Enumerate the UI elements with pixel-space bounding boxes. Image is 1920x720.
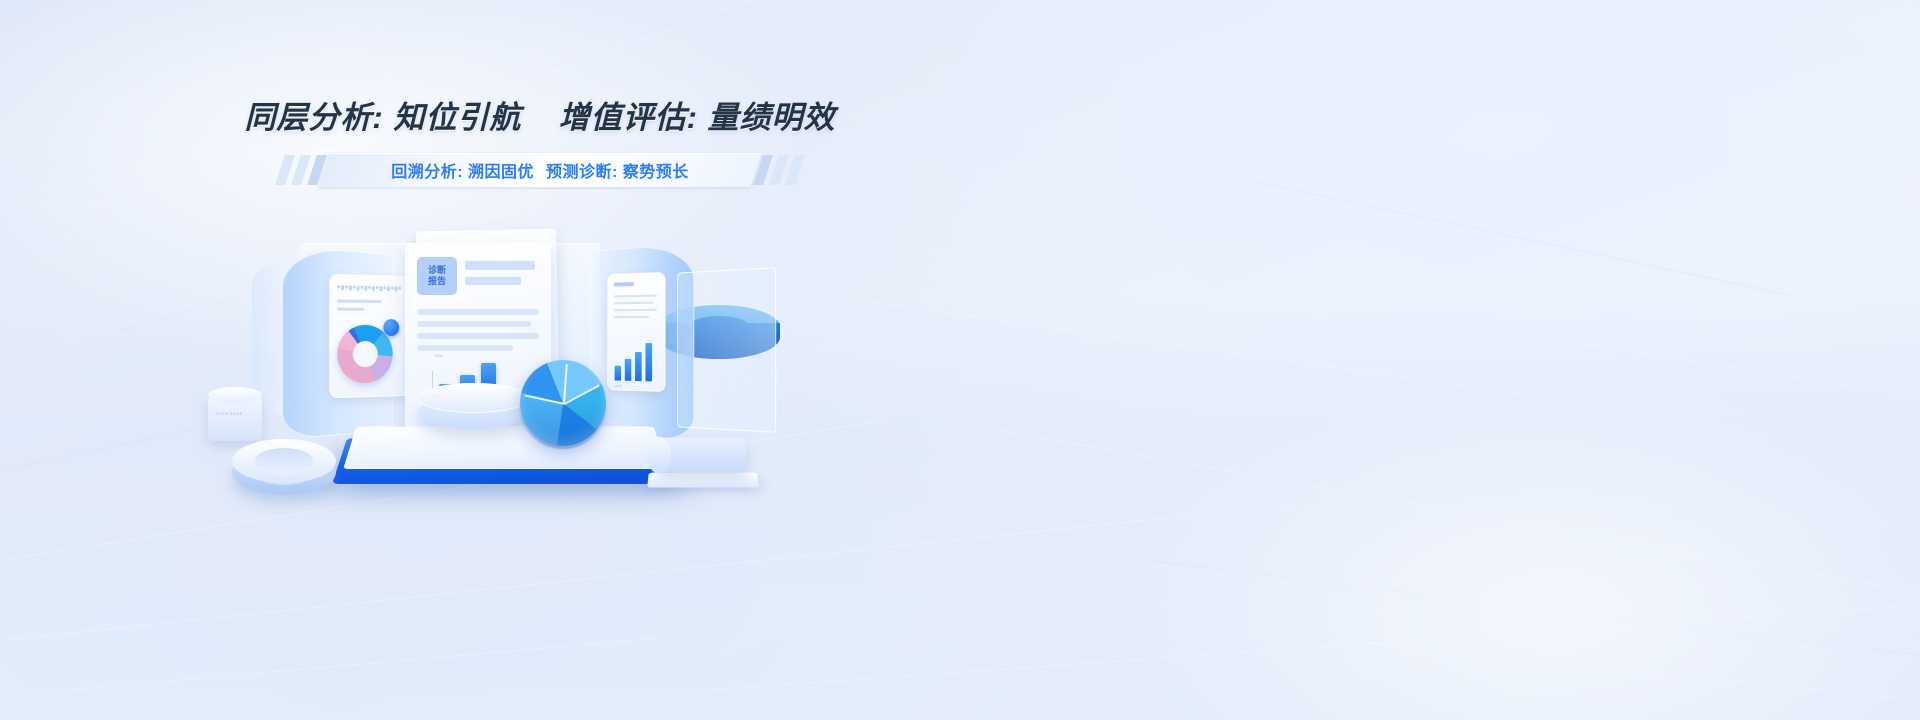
tube-prop [658, 438, 747, 473]
subtitle-part2: 预测诊断: 察势预长 [546, 158, 689, 182]
pie-chart-icon [520, 360, 606, 446]
card-line [614, 309, 657, 311]
mini-chart-axis-label: 20% [614, 383, 623, 388]
header-block: 同层分析: 知位引航 增值评估: 量绩明效 回溯分析: 溯因固优 预测诊断: 察… [0, 0, 1080, 187]
card-line [337, 299, 381, 303]
bar [625, 359, 632, 381]
blue-dot-icon [383, 319, 399, 336]
database-canister: DATA BASE [208, 395, 262, 441]
document-text-row [417, 309, 539, 315]
mini-bar-chart-card: 20% [607, 272, 665, 392]
pie-seam [563, 364, 567, 404]
donut-chart-card [329, 274, 413, 398]
donut-chart-icon [337, 325, 393, 384]
canister-label: DATA BASE [216, 411, 243, 416]
card-line [337, 308, 364, 311]
document-subtitle-bar [465, 277, 521, 285]
hero-banner: 同层分析: 知位引航 增值评估: 量绩明效 回溯分析: 溯因固优 预测诊断: 察… [0, 0, 1920, 720]
ring-prop-top [232, 439, 336, 483]
card-line [614, 316, 650, 318]
glass-wall-outer-right [677, 267, 776, 433]
card-header-bar [614, 282, 634, 286]
card-line [614, 302, 653, 305]
data-analytics-illustration: 20% 诊断 报告 50% [150, 195, 850, 595]
pie-seam [524, 395, 563, 405]
report-badge-line1: 诊断 [428, 265, 446, 276]
podium-top [343, 427, 667, 469]
card-line [614, 295, 657, 298]
subtitle-text: 回溯分析: 溯因固优 预测诊断: 察势预长 [280, 153, 800, 187]
page-title: 同层分析: 知位引航 增值评估: 量绩明效 [0, 92, 1080, 137]
tube-prop-slab [647, 473, 759, 488]
document-text-row [417, 333, 539, 339]
document-text-row [417, 345, 513, 351]
bar-chart-icon [615, 339, 658, 382]
pie-seam [563, 385, 599, 405]
subtitle-ribbon: 回溯分析: 溯因固优 预测诊断: 察势预长 [280, 153, 800, 187]
document-text-row [417, 321, 531, 327]
card-dot-row [337, 285, 402, 291]
bar [645, 343, 652, 381]
chart-axis-label: 50% [435, 353, 443, 358]
document-title-bar [465, 261, 535, 270]
report-badge-line2: 报告 [428, 276, 446, 287]
page-title-part1: 同层分析: 知位引航 [244, 100, 521, 135]
page-title-part2: 增值评估: 量绩明效 [559, 100, 836, 135]
bar [635, 352, 642, 381]
bar [615, 365, 621, 380]
report-badge: 诊断 报告 [417, 257, 457, 295]
subtitle-part1: 回溯分析: 溯因固优 [391, 158, 534, 182]
podium-cylinder [418, 383, 530, 413]
